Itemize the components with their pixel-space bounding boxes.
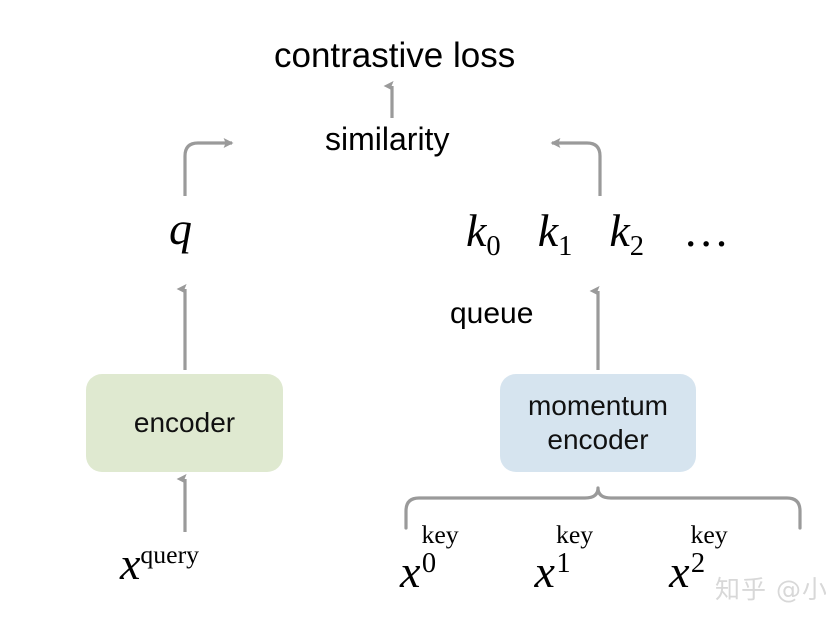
similarity-label: similarity <box>325 121 449 158</box>
query-input-superscript: query <box>140 540 199 569</box>
momentum-encoder-box-label: momentum encoder <box>528 389 668 457</box>
key-symbol-2-sub: 2 <box>630 231 644 262</box>
key-input-0-sup: key <box>421 522 458 548</box>
key-symbol-0-base: k <box>466 205 486 256</box>
key-input-1: xkey1 <box>535 546 635 597</box>
key-input-0: xkey0 <box>400 546 500 597</box>
key-symbol-0: k0 <box>466 205 512 256</box>
key-input-1-base: x <box>535 546 555 597</box>
key-symbols-ellipsis: … <box>683 205 729 256</box>
query-representation-symbol: q <box>169 206 192 252</box>
query-input-symbol: xquery <box>120 541 199 587</box>
key-symbol-0-sub: 0 <box>486 231 500 262</box>
key-input-2-base: x <box>669 546 689 597</box>
brace-key-inputs <box>406 488 800 528</box>
key-input-1-sup: key <box>556 522 593 548</box>
contrastive-loss-label: contrastive loss <box>274 36 515 76</box>
encoder-box[interactable]: encoder <box>86 374 283 472</box>
query-input-base: x <box>120 538 140 589</box>
encoder-box-label: encoder <box>134 406 235 440</box>
momentum-encoder-box[interactable]: momentum encoder <box>500 374 696 472</box>
key-input-2-sup: key <box>691 522 728 548</box>
queue-label: queue <box>450 297 533 332</box>
key-input-2-sub: 2 <box>691 550 705 579</box>
figure-canvas: contrastive loss similarity queue q k0 k… <box>0 0 826 634</box>
key-input-1-sub: 1 <box>556 550 570 579</box>
key-input-symbols: xkey0 xkey1 xkey2 <box>400 541 769 595</box>
key-symbol-1-sub: 1 <box>558 231 572 262</box>
key-symbol-1-base: k <box>538 205 558 256</box>
watermark-label: 知乎 @小白 <box>715 570 826 606</box>
query-symbol-base: q <box>169 203 192 254</box>
key-representation-symbols: k0 k1 k2 … <box>466 208 729 254</box>
arrow-keys-to-similarity <box>552 143 600 196</box>
key-input-0-base: x <box>400 546 420 597</box>
key-symbol-1: k1 <box>538 205 584 256</box>
key-input-0-sub: 0 <box>422 550 436 579</box>
key-symbol-2-base: k <box>609 205 629 256</box>
arrow-q-to-similarity <box>185 143 232 196</box>
key-symbol-2: k2 <box>609 205 655 256</box>
